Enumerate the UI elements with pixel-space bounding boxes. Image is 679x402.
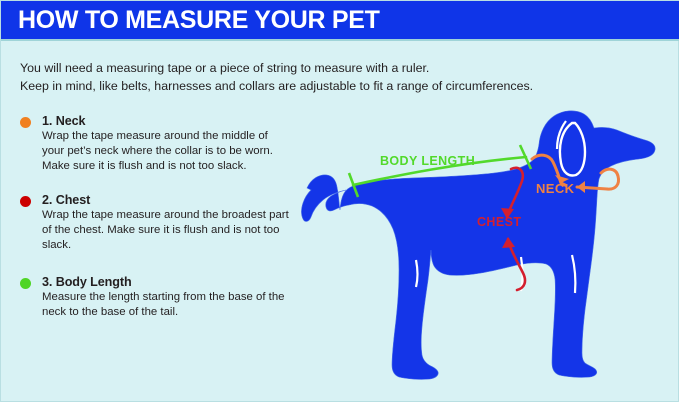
page-title: HOW TO MEASURE YOUR PET — [18, 7, 380, 33]
list-item: 3. Body Length Measure the length starti… — [20, 274, 288, 320]
step-body-neck: Wrap the tape measure around the middle … — [42, 129, 290, 174]
bullet-neck-icon — [20, 117, 31, 128]
measurement-diagram: BODY LENGTH NECK CHEST — [289, 105, 679, 401]
infographic-page: HOW TO MEASURE YOUR PET You will need a … — [0, 0, 679, 402]
label-body-length: BODY LENGTH — [380, 154, 475, 168]
label-neck: NECK — [536, 181, 574, 196]
intro-line-1: You will need a measuring tape or a piec… — [20, 59, 660, 77]
step-title-body-length: 3. Body Length — [42, 274, 288, 290]
list-item: 1. Neck Wrap the tape measure around the… — [20, 113, 288, 174]
step-body-chest: Wrap the tape measure around the broades… — [42, 208, 290, 253]
intro-line-2: Keep in mind, like belts, harnesses and … — [20, 77, 660, 95]
bullet-chest-icon — [20, 196, 31, 207]
list-item: 2. Chest Wrap the tape measure around th… — [20, 192, 288, 253]
label-chest: CHEST — [477, 215, 521, 229]
step-title-chest: 2. Chest — [42, 192, 288, 208]
header-divider — [1, 39, 679, 41]
dog-silhouette-icon — [289, 105, 679, 401]
step-title-neck: 1. Neck — [42, 113, 288, 129]
page-header-bar: HOW TO MEASURE YOUR PET — [1, 1, 679, 39]
step-body-body-length: Measure the length starting from the bas… — [42, 290, 290, 320]
intro-text: You will need a measuring tape or a piec… — [20, 59, 660, 95]
measurement-steps-list: 1. Neck Wrap the tape measure around the… — [20, 113, 288, 331]
bullet-body-length-icon — [20, 278, 31, 289]
